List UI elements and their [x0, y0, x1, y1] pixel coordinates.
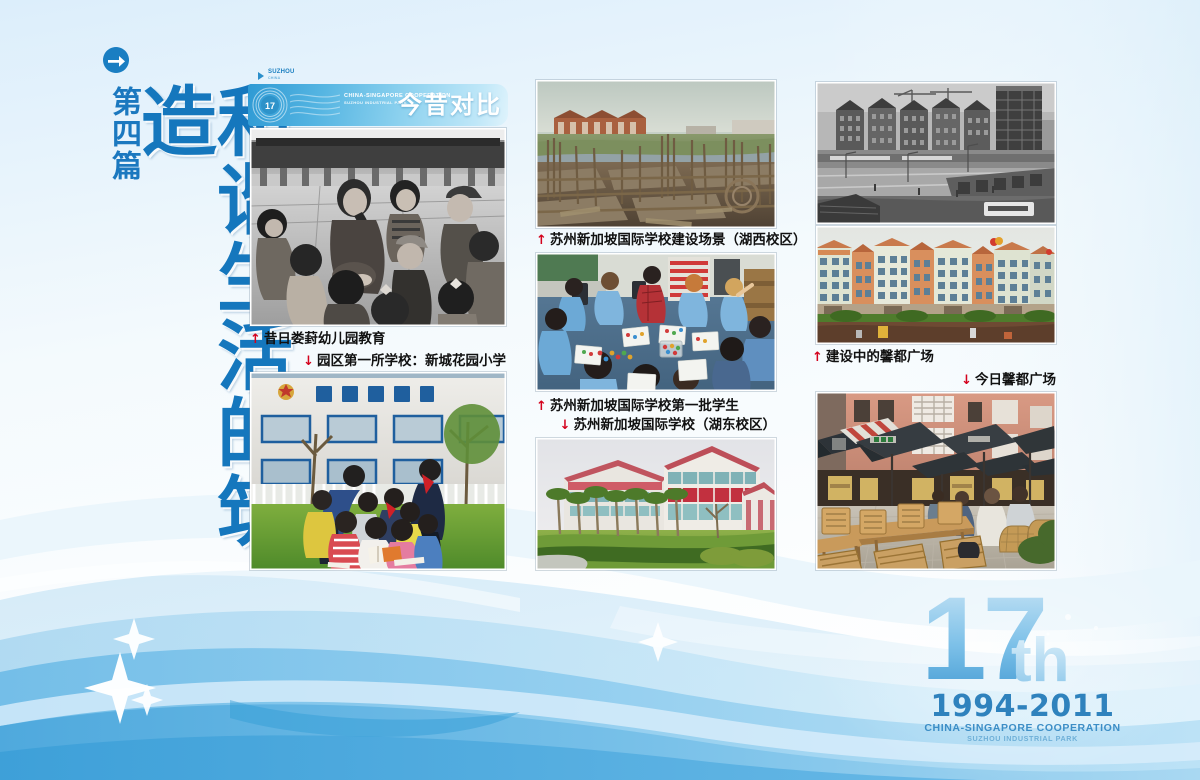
caption-kindergarten-old: ↑昔日娄葑幼儿园教育: [250, 330, 385, 349]
caption-marker-down-icon: ↓: [560, 418, 571, 433]
caption-marker-down-icon: ↓: [303, 354, 314, 369]
caption-text: 苏州新加坡国际学校（湖东校区）: [574, 417, 777, 433]
anniversary-line2: SUZHOU INDUSTRIAL PARK: [915, 734, 1130, 743]
photo-sisc-construction: [536, 80, 776, 228]
arrow-right-circle-icon: [102, 46, 130, 74]
caption-sisc-hudong: ↓苏州新加坡国际学校（湖东校区）: [536, 416, 776, 435]
banner-chinese-title: 今昔对比: [398, 89, 502, 121]
svg-text:17: 17: [265, 101, 275, 111]
photo-sisc-hudong: [536, 438, 776, 570]
caption-text: 建设中的馨都广场: [826, 349, 934, 365]
anniversary-line1: CHINA-SINGAPORE COOPERATION: [915, 722, 1130, 734]
photo-kindergarten-old: [250, 128, 506, 326]
photo-xindu-plaza-apartments: [816, 226, 1056, 344]
anniversary-years: 1994-2011: [915, 689, 1130, 724]
caption-marker-down-icon: ↓: [961, 373, 972, 388]
caption-text: 昔日娄葑幼儿园教育: [264, 331, 386, 347]
caption-sisc-first-students: ↑苏州新加坡国际学校第一批学生: [536, 397, 739, 416]
photo-xindu-plaza-today: [816, 392, 1056, 570]
photo-xincheng-primary: [250, 372, 506, 570]
caption-marker-up-icon: ↑: [536, 399, 547, 414]
caption-text: 苏州新加坡国际学校第一批学生: [550, 398, 739, 414]
caption-marker-up-icon: ↑: [250, 332, 261, 347]
caption-text: 苏州新加坡国际学校建设场景（湖西校区）: [550, 232, 807, 248]
suzhou-tag-line1: SUZHOU: [268, 69, 295, 75]
caption-marker-up-icon: ↑: [536, 233, 547, 248]
caption-marker-up-icon: ↑: [812, 350, 823, 365]
suzhou-logo-tag: SUZHOU CHINA: [258, 69, 318, 83]
photo-xindu-plaza-construction: [816, 82, 1056, 224]
suzhou-tag-line2: CHINA: [268, 76, 280, 80]
photo-sisc-first-students: [536, 253, 776, 391]
section-banner: 17 CHINA-SINGAPORE COOPERATION SUZHOU IN…: [248, 84, 508, 126]
caption-text: 园区第一所学校：新城花园小学: [317, 353, 506, 369]
caption-xindu-plaza-construction: ↑建设中的馨都广场: [812, 348, 934, 367]
anniversary-stamp-icon: 17: [252, 86, 292, 124]
wave-lines-decoration: [290, 90, 340, 120]
caption-text: 今日馨都广场: [975, 372, 1056, 388]
triangle-icon: [258, 72, 264, 80]
svg-text:th: th: [1011, 626, 1070, 695]
anniversary-logo: 17 th 1994-2011 CHINA-SINGAPORE COOPERAT…: [915, 585, 1130, 750]
caption-xindu-plaza-today: ↓今日馨都广场: [816, 371, 1056, 390]
caption-xincheng-primary: ↓园区第一所学校：新城花园小学: [246, 352, 506, 371]
chapter-title-block: 第四篇 和谐生活的筑造: [88, 24, 228, 554]
caption-sisc-construction: ↑苏州新加坡国际学校建设场景（湖西校区）: [536, 231, 806, 250]
poster-page: 第四篇 和谐生活的筑造 SUZHOU CHINA 17 CHINA-SINGAP…: [0, 0, 1200, 780]
anniversary-17th-icon: 17 th: [915, 585, 1130, 695]
